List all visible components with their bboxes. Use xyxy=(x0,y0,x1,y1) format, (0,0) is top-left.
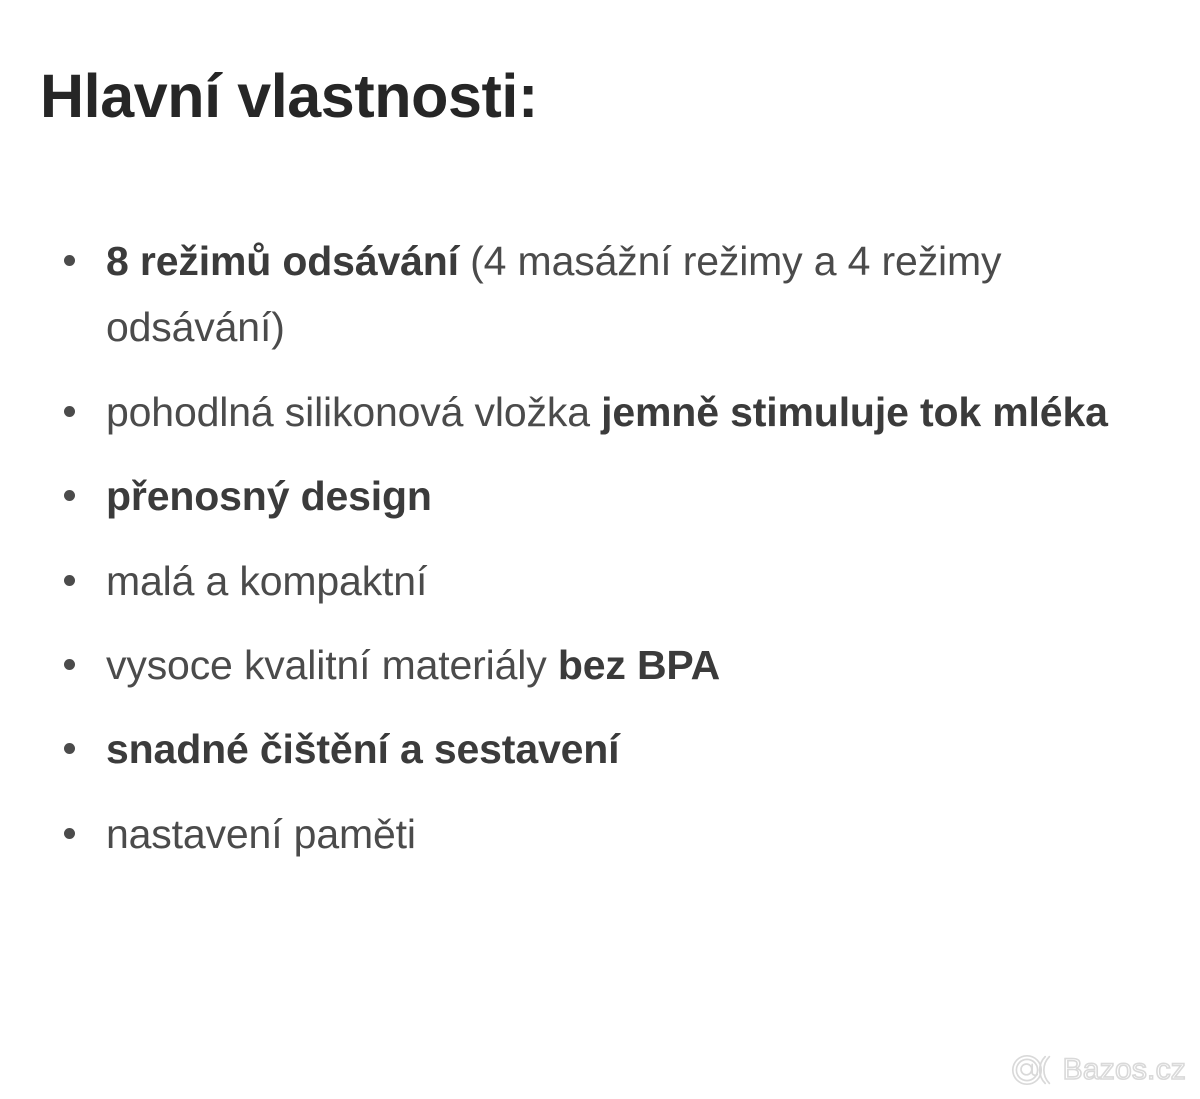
list-item: 8 režimů odsávání (4 masážní režimy a 4 … xyxy=(40,228,1160,361)
list-item: vysoce kvalitní materiály bez BPA xyxy=(40,632,1160,698)
feature-list: 8 režimů odsávání (4 masážní režimy a 4 … xyxy=(40,228,1160,867)
watermark-text: Bazos.cz xyxy=(1063,1053,1186,1087)
list-item: malá a kompaktní xyxy=(40,548,1160,614)
list-item: přenosný design xyxy=(40,463,1160,529)
regular-text: pohodlná silikonová vložka xyxy=(106,389,601,435)
bazos-at-logo-icon xyxy=(1010,1053,1056,1087)
regular-text: nastavení paměti xyxy=(106,811,416,857)
bullet-icon xyxy=(64,575,75,586)
bullet-icon xyxy=(64,659,75,670)
document-page: Hlavní vlastnosti: 8 režimů odsávání (4 … xyxy=(0,0,1200,1099)
bullet-icon xyxy=(64,743,75,754)
feature-small-compact: malá a kompaktní xyxy=(106,548,1160,614)
emphasis-text: 8 režimů odsávání xyxy=(106,238,459,284)
list-item: snadné čištění a sestavení xyxy=(40,716,1160,782)
feature-silicone-insert: pohodlná silikonová vložka jemně stimulu… xyxy=(106,379,1160,445)
feature-memory-setting: nastavení paměti xyxy=(106,801,1160,867)
list-item: pohodlná silikonová vložka jemně stimulu… xyxy=(40,379,1160,445)
emphasis-text: bez BPA xyxy=(558,642,720,688)
page-title: Hlavní vlastnosti: xyxy=(40,62,538,132)
watermark: Bazos.cz xyxy=(1010,1053,1186,1087)
bullet-icon xyxy=(64,490,75,501)
feature-suction-modes: 8 režimů odsávání (4 masážní režimy a 4 … xyxy=(106,228,1160,361)
regular-text: malá a kompaktní xyxy=(106,558,427,604)
feature-portable-design: přenosný design xyxy=(106,463,1160,529)
emphasis-text: snadné čištění a sestavení xyxy=(106,726,619,772)
emphasis-text: jemně stimuluje tok mléka xyxy=(601,389,1108,435)
bullet-icon xyxy=(64,255,75,266)
emphasis-text: přenosný design xyxy=(106,473,432,519)
bullet-icon xyxy=(64,828,75,839)
feature-bpa-free: vysoce kvalitní materiály bez BPA xyxy=(106,632,1160,698)
bullet-icon xyxy=(64,406,75,417)
regular-text: vysoce kvalitní materiály xyxy=(106,642,558,688)
list-item: nastavení paměti xyxy=(40,801,1160,867)
feature-easy-cleaning: snadné čištění a sestavení xyxy=(106,716,1160,782)
